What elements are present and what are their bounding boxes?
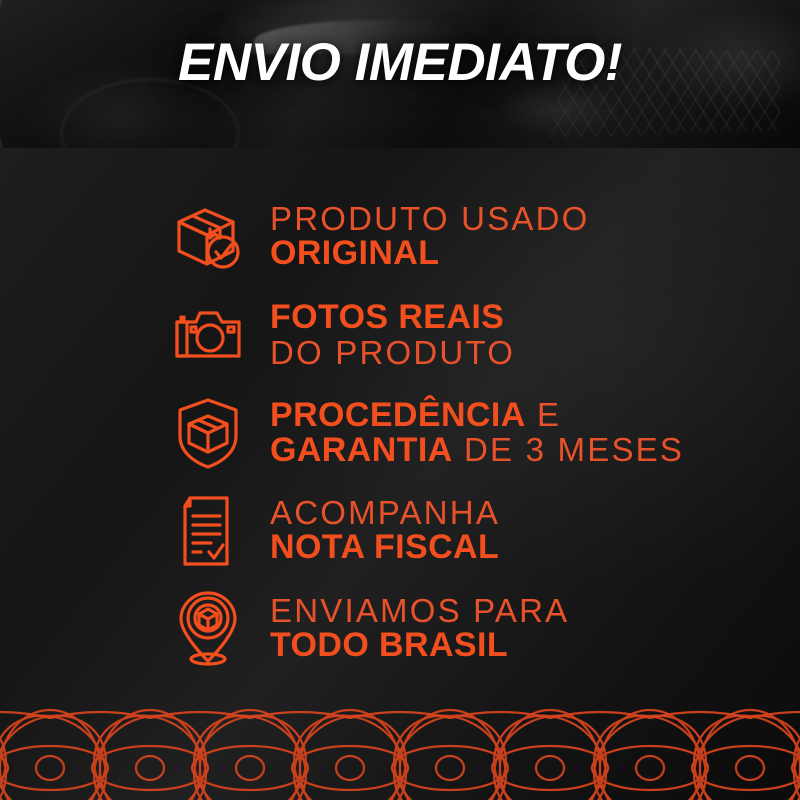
feature-line-1-bold: PROCEDÊNCIA — [270, 396, 526, 434]
feature-line-2-bold: GARANTIA — [270, 431, 453, 469]
feature-row-procedencia-garantia: PROCEDÊNCIA E GARANTIA DE 3 MESES — [160, 384, 800, 482]
geometric-floral-lattice — [0, 690, 800, 800]
feature-line-1: PROCEDÊNCIA E — [270, 398, 684, 433]
feature-row-nota-fiscal: ACOMPANHA NOTA FISCAL — [160, 482, 800, 580]
feature-line-2: DO PRODUTO — [270, 336, 515, 370]
banner-header: ENVIO IMEDIATO! — [0, 0, 800, 148]
feature-text-fotos-reais: FOTOS REAIS DO PRODUTO — [256, 300, 515, 370]
page-title: ENVIO IMEDIATO! — [0, 36, 800, 89]
feature-text-procedencia-garantia: PROCEDÊNCIA E GARANTIA DE 3 MESES — [256, 398, 684, 469]
banner-body: PRODUTO USADO ORIGINAL — [0, 148, 800, 800]
feature-line-2: ORIGINAL — [270, 236, 590, 271]
feature-text-produto-usado: PRODUTO USADO ORIGINAL — [256, 202, 590, 272]
feature-line-2: TODO BRASIL — [270, 628, 569, 663]
shield-box-icon — [160, 396, 256, 470]
feature-row-fotos-reais: FOTOS REAIS DO PRODUTO — [160, 286, 800, 384]
feature-line-1-light: E — [526, 396, 562, 433]
feature-text-todo-brasil: ENVIAMOS PARA TODO BRASIL — [256, 594, 569, 664]
feature-line-1: PRODUTO USADO — [270, 202, 590, 236]
feature-line-2-light: DE 3 MESES — [453, 431, 684, 468]
feature-line-1: FOTOS REAIS — [270, 300, 515, 335]
box-check-icon — [160, 202, 256, 272]
document-check-icon — [160, 494, 256, 568]
feature-line-1: ACOMPANHA — [270, 496, 500, 530]
feature-row-produto-usado: PRODUTO USADO ORIGINAL — [160, 188, 800, 286]
feature-line-1: ENVIAMOS PARA — [270, 594, 569, 628]
map-pin-box-icon — [160, 589, 256, 669]
feature-line-2: NOTA FISCAL — [270, 530, 500, 565]
camera-icon — [160, 304, 256, 366]
feature-line-2: GARANTIA DE 3 MESES — [270, 433, 684, 468]
feature-row-todo-brasil: ENVIAMOS PARA TODO BRASIL — [160, 580, 800, 678]
feature-text-nota-fiscal: ACOMPANHA NOTA FISCAL — [256, 496, 500, 566]
feature-list: PRODUTO USADO ORIGINAL — [160, 188, 800, 678]
promotional-banner: ENVIO IMEDIATO! PRODUTO USADO — [0, 0, 800, 800]
